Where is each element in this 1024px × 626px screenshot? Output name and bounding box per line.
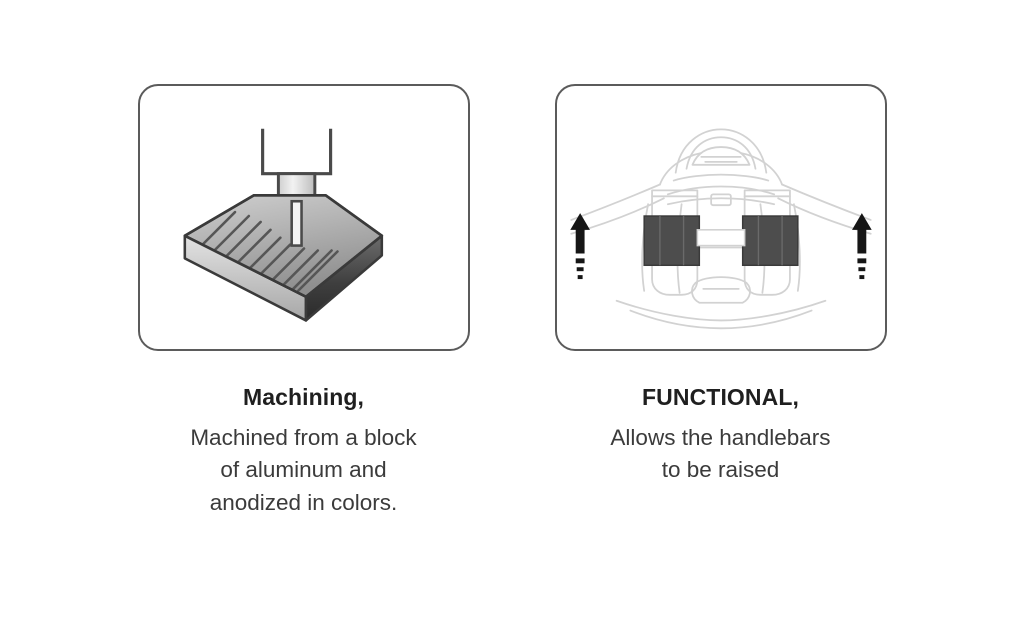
feature-machining: Machining, Machined from a block of alum… [138,0,470,520]
spindle-holder [262,130,330,173]
functional-body: Allows the handlebars to be raised [551,422,891,487]
functional-title: FUNCTIONAL, [551,383,891,412]
machining-body-line-3: anodized in colors. [134,487,474,520]
machining-caption: Machining, Machined from a block of alum… [134,383,474,520]
handlebar-crossbar [697,230,744,246]
machining-title: Machining, [134,383,474,412]
arrow-up-left-icon [570,213,590,279]
feature-cards-row: Machining, Machined from a block of alum… [0,0,1024,520]
feature-functional: FUNCTIONAL, Allows the handlebars to be … [555,0,887,487]
functional-body-line-1: Allows the handlebars [551,422,891,455]
motorcycle-line-art [571,129,870,328]
machining-body: Machined from a block of aluminum and an… [134,422,474,520]
machining-icon-card [138,84,470,351]
cutting-bit-tip [291,201,301,245]
functional-body-line-2: to be raised [551,454,891,487]
cnc-milling-machine-icon [140,86,468,349]
arrow-up-right-icon [852,213,872,279]
functional-caption: FUNCTIONAL, Allows the handlebars to be … [551,383,891,487]
handlebar-riser-icon [557,86,885,349]
machining-body-line-1: Machined from a block [134,422,474,455]
functional-icon-card [555,84,887,351]
machining-body-line-2: of aluminum and [134,454,474,487]
feature-cards-page: Machining, Machined from a block of alum… [0,0,1024,626]
